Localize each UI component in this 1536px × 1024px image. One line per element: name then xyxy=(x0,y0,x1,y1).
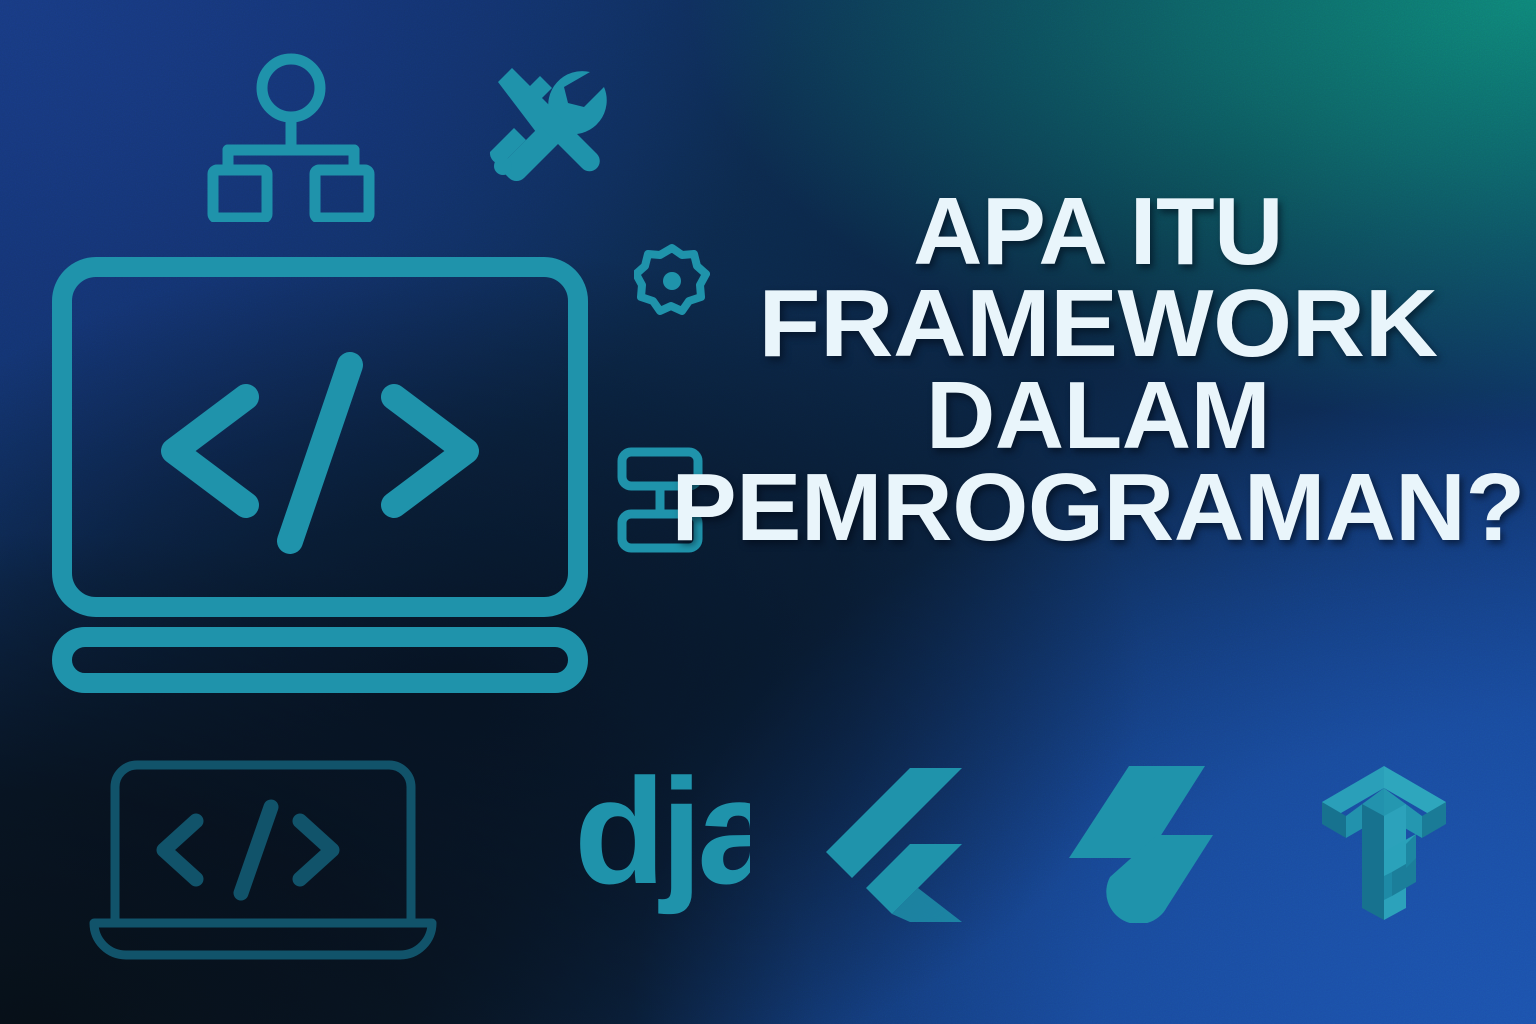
title-line-3: DALAM xyxy=(660,370,1536,462)
django-logo: dja xyxy=(560,762,750,922)
poster-title: APA ITU FRAMEWORK DALAM PEMROGRAMAN? xyxy=(660,186,1536,555)
title-line-2: FRAMEWORK xyxy=(634,278,1536,370)
laptop-code-icon xyxy=(78,757,448,967)
flutter-logo xyxy=(822,766,974,924)
sitemap-icon xyxy=(206,52,376,222)
tensorflow-logo xyxy=(1306,762,1454,924)
code-monitor-icon xyxy=(50,255,590,695)
poster-canvas: APA ITU FRAMEWORK DALAM PEMROGRAMAN? dja xyxy=(0,0,1536,1024)
tools-icon xyxy=(480,62,608,190)
title-line-1: APA ITU xyxy=(660,186,1536,278)
django-logo-wordmark: dja xyxy=(574,762,750,906)
title-line-4: PEMROGRAMAN? xyxy=(651,462,1536,554)
laravel-logo xyxy=(1063,763,1213,923)
